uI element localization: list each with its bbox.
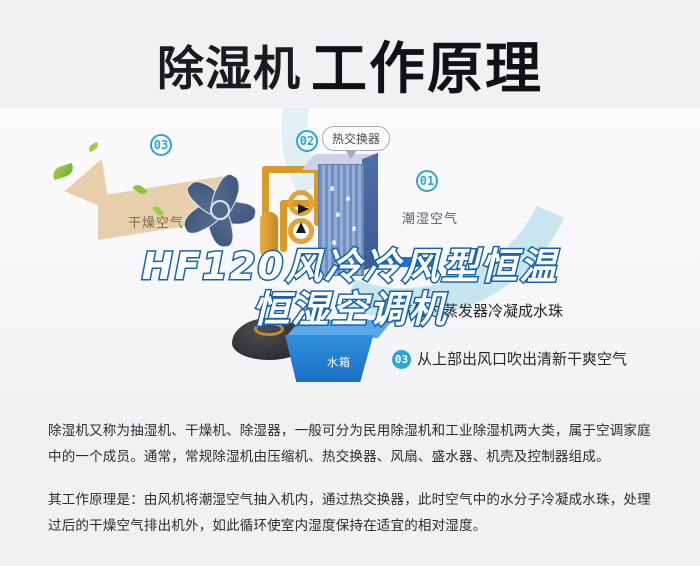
- step-03-line: 03从上部出风口吹出清新干爽空气: [392, 348, 627, 369]
- condensation-drops-icon: [324, 178, 364, 270]
- accumulator-icon: [260, 212, 278, 258]
- step-02-text: 气经过蒸发器冷凝成水珠: [398, 300, 563, 321]
- page-title: 除湿机工作原理: [0, 24, 700, 105]
- water-tank-label: 水箱: [327, 354, 351, 370]
- body-copy: 除湿机又称为抽湿机、干燥机、除湿器，一般可分为民用除湿机和工业除湿机两大类，属于…: [48, 418, 660, 539]
- body-paragraph-1: 除湿机又称为抽湿机、干燥机、除湿器，一般可分为民用除湿机和工业除湿机两大类，属于…: [48, 418, 660, 471]
- heat-exchanger-side: [362, 153, 378, 271]
- page-title-part2: 工作原理: [311, 37, 543, 102]
- flow-arrow-right-icon: [298, 204, 309, 214]
- page-root: 除湿机工作原理 干燥空气: [0, 0, 700, 566]
- air-intake-arrow-icon: [378, 254, 434, 270]
- compressor-cap: [254, 322, 284, 336]
- flow-arrow-up-icon: [296, 222, 306, 233]
- dehumidifier-diagram: 干燥空气: [0, 108, 700, 393]
- badge-01: 01: [416, 170, 438, 192]
- heat-exchanger-callout: 热交换器: [322, 126, 390, 151]
- step-03-text: 从上部出风口吹出清新干爽空气: [417, 350, 627, 368]
- body-paragraph-2: 其工作原理是：由风机将潮湿空气抽入机内，通过热交换器，此时空气中的水分子冷凝成水…: [48, 487, 660, 540]
- page-title-part1: 除湿机: [157, 42, 301, 97]
- badge-03-filled: 03: [392, 350, 411, 369]
- heat-exchanger-icon: [318, 162, 380, 278]
- badge-02: 02: [296, 130, 318, 152]
- fan-hub: [210, 200, 230, 220]
- badge-03: 03: [150, 134, 172, 156]
- humid-air-label: 潮湿空气: [402, 208, 458, 227]
- pipe-segment: [280, 200, 287, 252]
- water-tank-icon: 水箱: [285, 320, 393, 382]
